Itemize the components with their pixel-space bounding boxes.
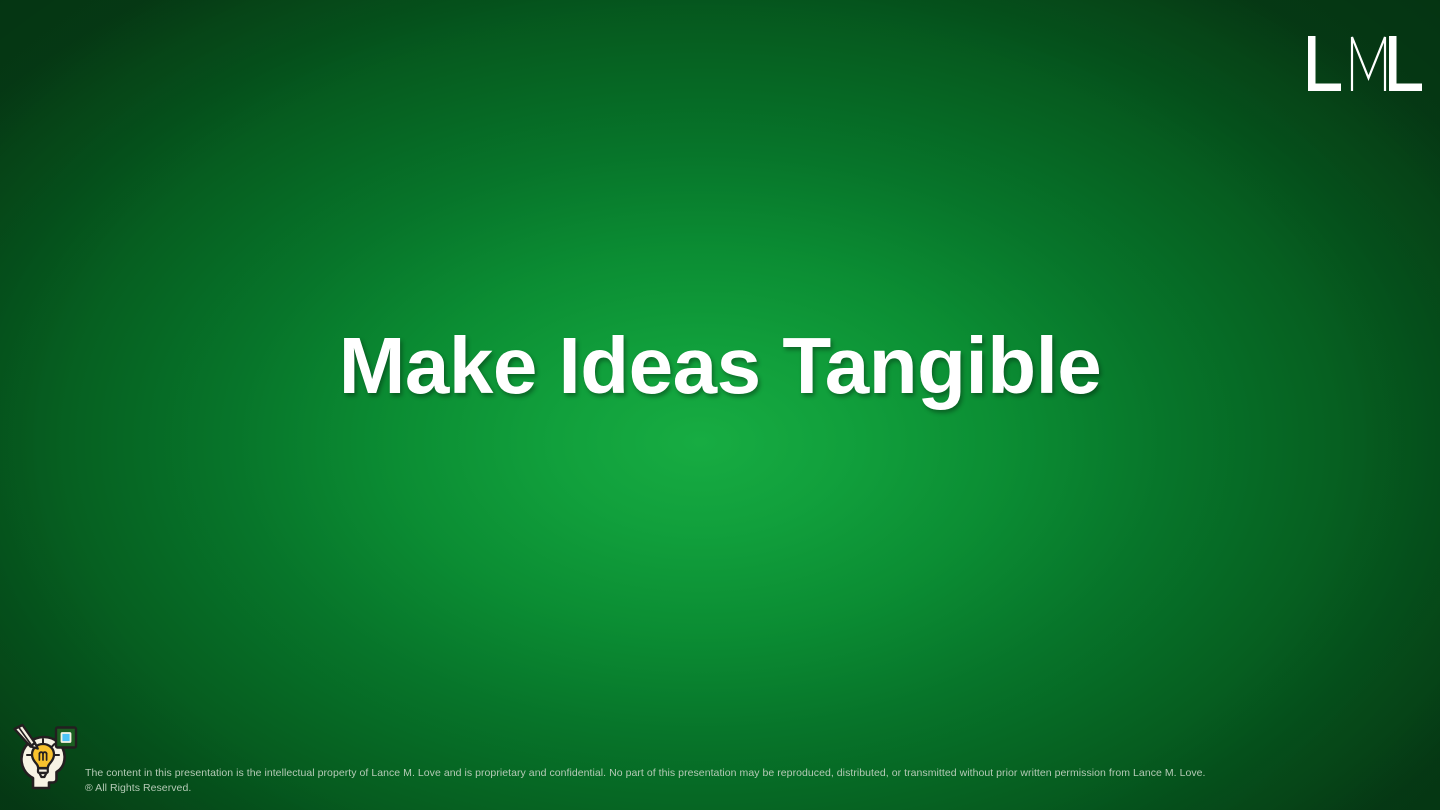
lightbulb-tip	[39, 773, 46, 777]
slide-footer: The content in this presentation is the …	[0, 714, 1440, 810]
slide-title: Make Ideas Tangible	[339, 320, 1102, 412]
copyright-line-2: ® All Rights Reserved.	[85, 781, 1325, 796]
headline-container: Make Ideas Tangible	[0, 0, 1440, 810]
presentation-slide: Make Ideas Tangible	[0, 0, 1440, 810]
head-with-lightbulb-icon	[9, 722, 79, 792]
copyright-line-1: The content in this presentation is the …	[85, 766, 1325, 781]
copyright-notice: The content in this presentation is the …	[85, 766, 1325, 796]
brand-icon-art	[9, 722, 79, 792]
badge-icon	[56, 728, 76, 748]
